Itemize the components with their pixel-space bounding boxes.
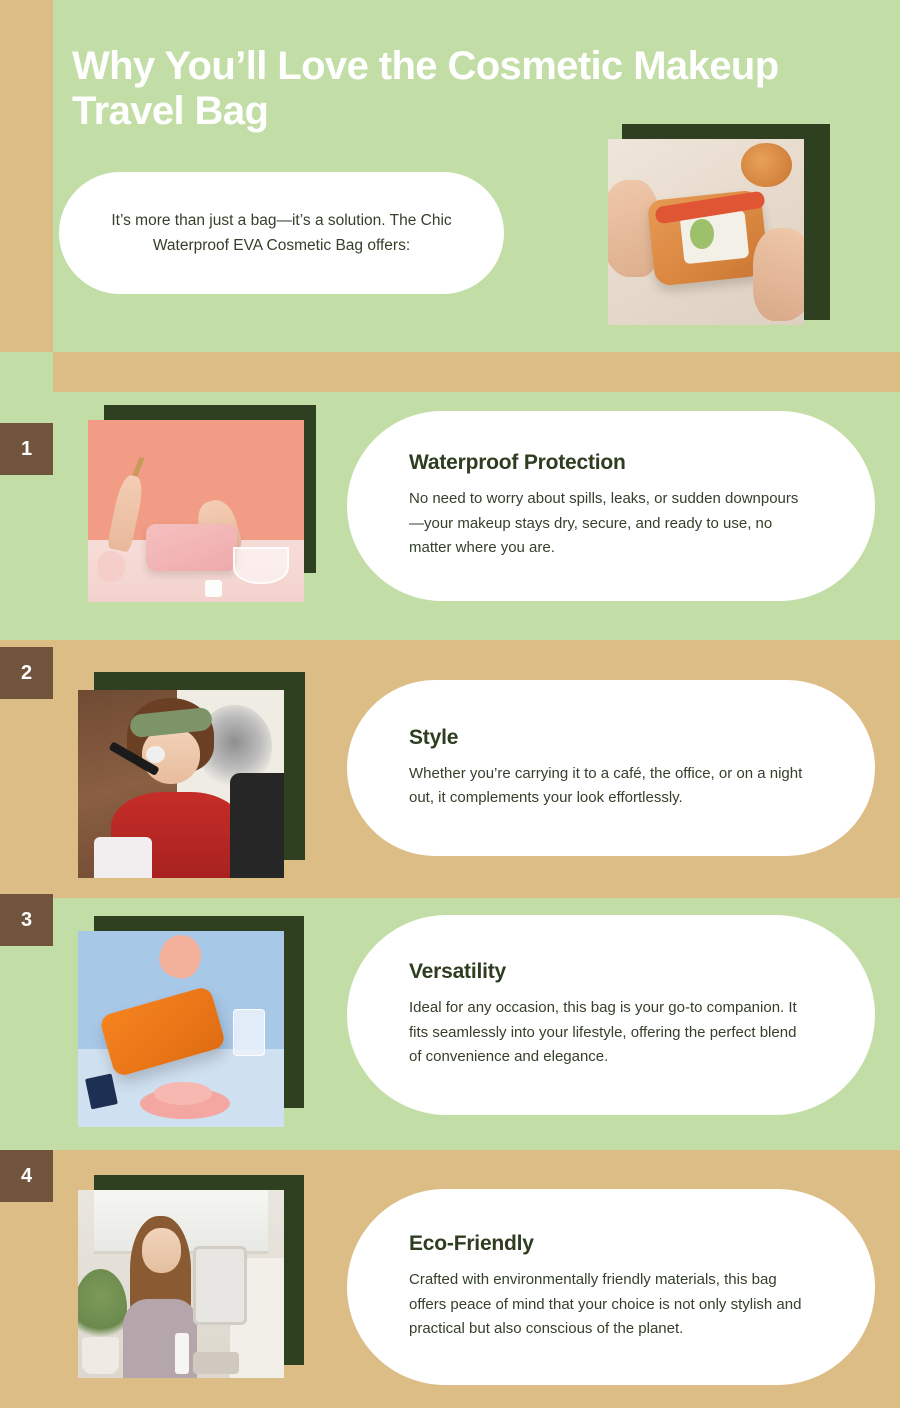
- section-row-3: 3 Versatility Ideal for any occasion, th…: [0, 898, 900, 1150]
- tray-shape: [193, 1352, 238, 1375]
- section-row-4: 4 Eco-Friendly Crafted with environmenta…: [0, 1150, 900, 1408]
- feature-card-3: Versatility Ideal for any occasion, this…: [347, 915, 875, 1115]
- header-left-accent-strip: [0, 0, 53, 352]
- feature-title-2: Style: [409, 726, 813, 750]
- camera-shape: [230, 773, 284, 878]
- feature-card-2: Style Whether you’re carrying it to a ca…: [347, 680, 875, 856]
- section-number-badge-4: 4: [0, 1150, 53, 1202]
- brush-tip-shape: [146, 746, 165, 763]
- intro-text: It’s more than just a bag—it’s a solutio…: [93, 208, 471, 258]
- vanity-mirror-shape: [193, 1246, 247, 1325]
- face-shape: [142, 1228, 181, 1273]
- feature-body-1: No need to worry about spills, leaks, or…: [409, 487, 813, 560]
- hero-right-hand-shape: [753, 228, 804, 321]
- header-section: Why You’ll Love the Cosmetic Makeup Trav…: [0, 0, 900, 352]
- feature-title-3: Versatility: [409, 960, 813, 984]
- glass-bowl-shape: [233, 547, 289, 583]
- feature-card-4: Eco-Friendly Crafted with environmentall…: [347, 1189, 875, 1385]
- hero-image: [608, 139, 804, 325]
- infographic-page: Why You’ll Love the Cosmetic Makeup Trav…: [0, 0, 900, 1408]
- section-number-badge-3: 3: [0, 894, 53, 946]
- hero-green-item-shape: [690, 219, 714, 249]
- pink-bag-shape: [146, 524, 237, 571]
- header-band-gap: [0, 352, 53, 392]
- section-number-badge-2: 2: [0, 647, 53, 699]
- intro-bubble: It’s more than just a bag—it’s a solutio…: [59, 172, 504, 294]
- perfume-bottle-shape: [233, 1009, 266, 1056]
- small-cube-shape: [205, 580, 222, 596]
- section-image-2: [78, 690, 284, 878]
- feature-title-4: Eco-Friendly: [409, 1232, 813, 1256]
- section-image-4: [78, 1190, 284, 1378]
- plant-pot-shape: [82, 1337, 119, 1375]
- section-number-badge-1: 1: [0, 423, 53, 475]
- feature-title-1: Waterproof Protection: [409, 451, 813, 475]
- feature-body-2: Whether you’re carrying it to a café, th…: [409, 762, 813, 811]
- feature-body-3: Ideal for any occasion, this bag is your…: [409, 996, 813, 1069]
- section-image-3: [78, 931, 284, 1127]
- feature-card-1: Waterproof Protection No need to worry a…: [347, 411, 875, 601]
- brush-cup-shape: [94, 837, 152, 878]
- cosmetic-bottle-shape: [175, 1333, 189, 1374]
- feature-body-4: Crafted with environmentally friendly ma…: [409, 1268, 813, 1341]
- section-row-1: 1 Waterproof Protection No need to worry…: [0, 392, 900, 640]
- section-row-2: 2 Style Whether you’re carrying it to a …: [0, 640, 900, 898]
- header-divider-band: [53, 352, 900, 392]
- perfume-bottle-shape: [97, 551, 125, 582]
- section-image-1: [88, 420, 304, 602]
- page-title: Why You’ll Love the Cosmetic Makeup Trav…: [72, 44, 832, 134]
